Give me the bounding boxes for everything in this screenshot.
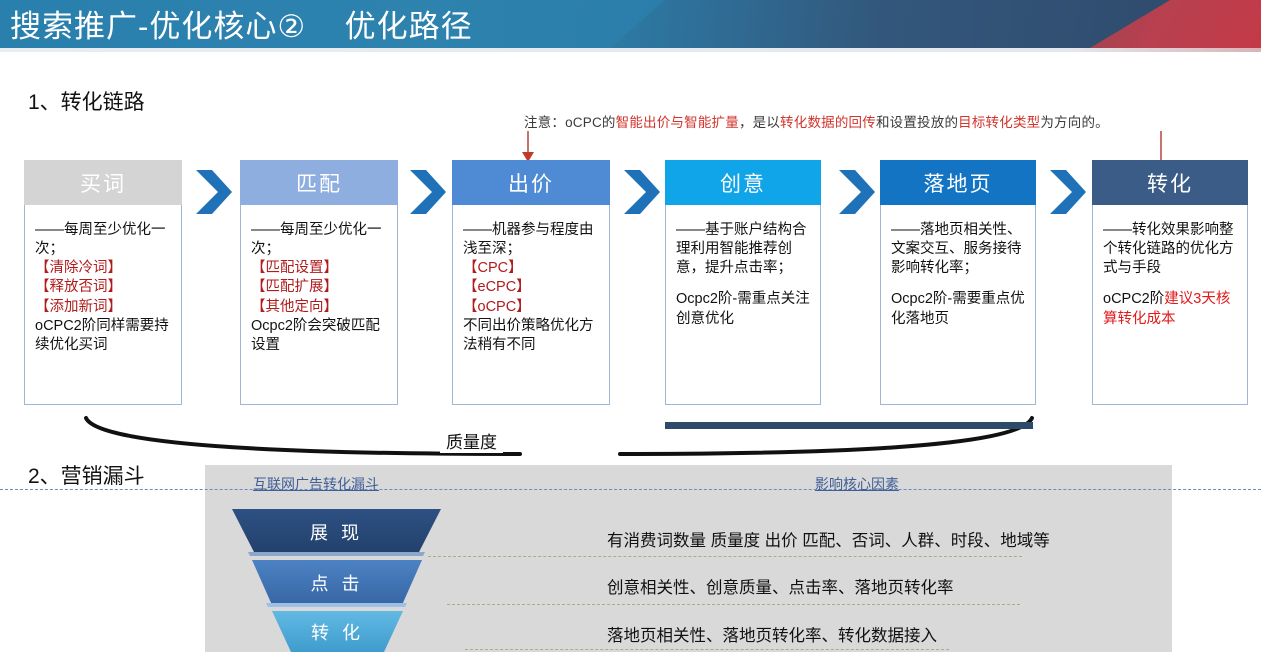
funnel-caption-left: 互联网广告转化漏斗 (253, 474, 379, 494)
funnel-tier-impression[interactable]: 展 现 (232, 509, 441, 554)
flow-card-spacer (1103, 278, 1239, 290)
funnel-caption-right: 影响核心因素 (815, 474, 899, 494)
funnel-factor-click: 创意相关性、创意质量、点击率、落地页转化率 (607, 574, 954, 598)
note-text: 注意：oCPC的智能出价与智能扩量，是以转化数据的回传和设置投放的目标转化类型为… (524, 111, 1109, 131)
note-connector-to-conversion (1160, 131, 1162, 161)
note-highlight-2: 转化数据的回传 (780, 115, 876, 130)
panel-divider (0, 489, 1261, 490)
funnel-rule-2 (447, 604, 1020, 605)
note-mid-1: ，是以 (739, 115, 780, 130)
flow-card-line: 【eCPC】 (463, 278, 601, 297)
flow-card-line: ——转化效果影响整个转化链路的优化方式与手段 (1103, 221, 1239, 278)
flow-card-line: ——落地页相关性、文案交互、服务接待影响转化率； (891, 221, 1027, 278)
flow-card-line: oCPC2阶建议3天核算转化成本 (1103, 290, 1239, 328)
flow-card-header-landing-page[interactable]: 落地页 (880, 160, 1036, 205)
flow-card-body-conversion: ——转化效果影响整个转化链路的优化方式与手段oCPC2阶建议3天核算转化成本 (1092, 205, 1248, 405)
flow-card-landing-page: 落地页——落地页相关性、文案交互、服务接待影响转化率；Ocpc2阶-需要重点优化… (880, 160, 1036, 405)
flow-card-line: 【匹配设置】 (251, 259, 389, 278)
funnel-tier-click[interactable]: 点 击 (252, 560, 422, 605)
flow-card-body-keyword: ——每周至少优化一次；【清除冷词】【释放否词】【添加新词】oCPC2阶同样需要持… (24, 205, 182, 405)
flow-card-header-keyword[interactable]: 买词 (24, 160, 182, 205)
quality-brace-svg (0, 412, 1261, 464)
flow-card-line: 【添加新词】 (35, 298, 173, 317)
flow-card-body-creative: ——基于账户结构合理利用智能推荐创意，提升点击率；Ocpc2阶-需重点关注创意优… (665, 205, 821, 405)
flow-card-line: Ocpc2阶-需重点关注创意优化 (676, 290, 812, 328)
flow-card-body-bid: ——机器参与程度由浅至深；【CPC】【eCPC】【oCPC】不同出价策略优化方法… (452, 205, 610, 405)
flow-card-line: 【清除冷词】 (35, 259, 173, 278)
flow-card-line: 不同出价策略优化方法稍有不同 (463, 317, 601, 355)
flow-card-conversion: 转化——转化效果影响整个转化链路的优化方式与手段oCPC2阶建议3天核算转化成本 (1092, 160, 1248, 405)
funnel-rule-1 (428, 556, 1022, 557)
note-prefix: 注意：oCPC的 (524, 115, 616, 130)
funnel-factor-impression: 有消费词数量 质量度 出价 匹配、否词、人群、时段、地域等 (607, 527, 1050, 551)
flow-card-spacer (676, 278, 812, 290)
section-label-conversion-path: 1、转化链路 (28, 86, 145, 116)
flow-card-line: 【释放否词】 (35, 278, 173, 297)
section-label-marketing-funnel: 2、营销漏斗 (28, 460, 145, 490)
funnel-tier-conversion[interactable]: 转 化 (272, 611, 403, 652)
flow-card-keyword: 买词——每周至少优化一次；【清除冷词】【释放否词】【添加新词】oCPC2阶同样需… (24, 160, 182, 405)
flow-card-header-bid[interactable]: 出价 (452, 160, 610, 205)
flow-card-match: 匹配——每周至少优化一次；【匹配设置】【匹配扩展】【其他定向】Ocpc2阶会突破… (240, 160, 398, 405)
flow-card-line: ——每周至少优化一次； (251, 221, 389, 259)
flow-card-line: 【CPC】 (463, 259, 601, 278)
flow-chevron-icon-4 (835, 168, 877, 216)
flow-card-body-landing-page: ——落地页相关性、文案交互、服务接待影响转化率；Ocpc2阶-需要重点优化落地页 (880, 205, 1036, 405)
flow-card-body-match: ——每周至少优化一次；【匹配设置】【匹配扩展】【其他定向】Ocpc2阶会突破匹配… (240, 205, 398, 405)
flow-card-creative: 创意——基于账户结构合理利用智能推荐创意，提升点击率；Ocpc2阶-需重点关注创… (665, 160, 821, 405)
flow-card-bid: 出价——机器参与程度由浅至深；【CPC】【eCPC】【oCPC】不同出价策略优化… (452, 160, 610, 405)
page-title: 搜索推广-优化核心② 优化路径 (10, 1, 473, 46)
flow-card-line: ——每周至少优化一次； (35, 221, 173, 259)
funnel-tier-click-shadow (266, 603, 407, 607)
flow-card-line: Ocpc2阶会突破匹配设置 (251, 317, 389, 355)
note-mid-2: 和设置投放的 (876, 115, 958, 130)
flow-chevron-icon-2 (406, 168, 448, 216)
flow-card-header-conversion[interactable]: 转化 (1092, 160, 1248, 205)
flow-card-line: ——基于账户结构合理利用智能推荐创意，提升点击率； (676, 221, 812, 278)
flow-chevron-icon-5 (1046, 168, 1088, 216)
flow-card-spacer (891, 278, 1027, 290)
flow-card-line: ——机器参与程度由浅至深； (463, 221, 601, 259)
flow-chevron-icon-3 (620, 168, 662, 216)
funnel-factor-conversion: 落地页相关性、落地页转化率、转化数据接入 (607, 622, 937, 646)
conversion-flow: 买词——每周至少优化一次；【清除冷词】【释放否词】【添加新词】oCPC2阶同样需… (0, 160, 1261, 418)
flow-card-line: oCPC2阶同样需要持续优化买词 (35, 317, 173, 355)
flow-card-header-match[interactable]: 匹配 (240, 160, 398, 205)
flow-chevron-icon-1 (192, 168, 234, 216)
note-suffix: 为方向的。 (1040, 115, 1109, 130)
funnel-tier-impression-shadow (248, 552, 425, 556)
flow-card-line-part: oCPC2阶 (1103, 291, 1164, 307)
flow-card-line: 【oCPC】 (463, 298, 601, 317)
flow-card-line: Ocpc2阶-需要重点优化落地页 (891, 290, 1027, 328)
quality-label: 质量度 (440, 428, 503, 453)
header-underline (0, 48, 1261, 52)
flow-card-line: 【其他定向】 (251, 298, 389, 317)
flow-card-header-creative[interactable]: 创意 (665, 160, 821, 205)
quality-navy-bar (665, 422, 1033, 429)
funnel-rule-3 (465, 649, 949, 650)
quality-brace (0, 412, 1261, 464)
note-highlight-3: 目标转化类型 (958, 115, 1040, 130)
flow-card-line: 【匹配扩展】 (251, 278, 389, 297)
note-highlight-1: 智能出价与智能扩量 (616, 115, 739, 130)
